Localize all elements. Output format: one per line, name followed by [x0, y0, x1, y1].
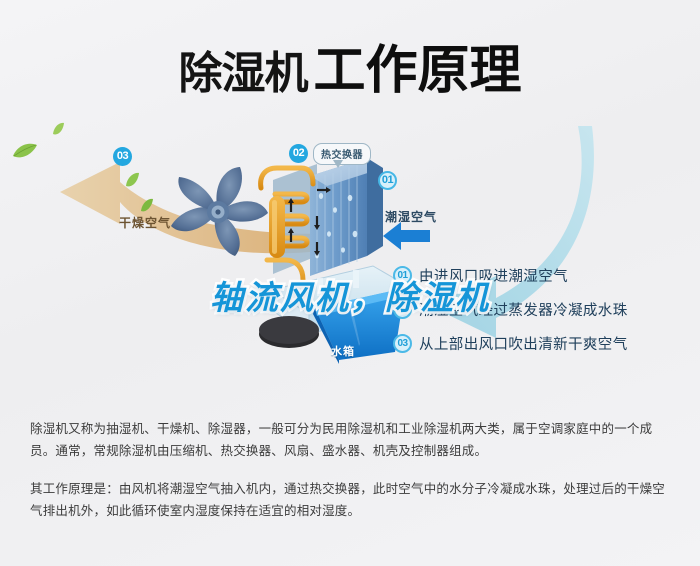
leaf-icon	[125, 172, 140, 188]
callout-tail-icon	[333, 160, 343, 168]
infographic-page: 除湿机工作原理	[0, 0, 700, 566]
page-title-part2: 工作原理	[313, 42, 521, 100]
paragraph-2: 其工作原理是：由风机将潮湿空气抽入机内，通过热交换器，此时空气中的水分子冷凝成水…	[30, 478, 675, 522]
body-copy: 除湿机又称为抽湿机、干燥机、除湿器，一般可分为民用除湿机和工业除湿机两大类，属于…	[30, 418, 675, 522]
air-inlet-arrow-icon	[383, 222, 430, 250]
diagram-badge-01: 01	[378, 171, 397, 190]
dry-air-label: 干燥空气	[119, 214, 171, 231]
leaf-icon	[52, 122, 65, 136]
list-item: 03 从上部出风口吹出清新干爽空气	[393, 326, 693, 360]
step-number: 03	[393, 334, 412, 353]
page-title: 除湿机工作原理	[0, 28, 700, 103]
step-text: 从上部出风口吹出清新干爽空气	[419, 333, 628, 354]
water-tank-label: 水箱	[331, 343, 355, 359]
leaf-icon	[140, 198, 154, 213]
page-title-part1: 除湿机	[178, 49, 307, 98]
leaf-icon	[12, 142, 38, 162]
overlay-watermark-text: 轴流风机，除湿机	[0, 271, 700, 319]
diagram-badge-02: 02	[289, 144, 308, 163]
humid-air-label: 潮湿空气	[385, 208, 437, 225]
paragraph-1: 除湿机又称为抽湿机、干燥机、除湿器，一般可分为民用除湿机和工业除湿机两大类，属于…	[30, 418, 675, 462]
diagram-badge-03: 03	[113, 147, 132, 166]
